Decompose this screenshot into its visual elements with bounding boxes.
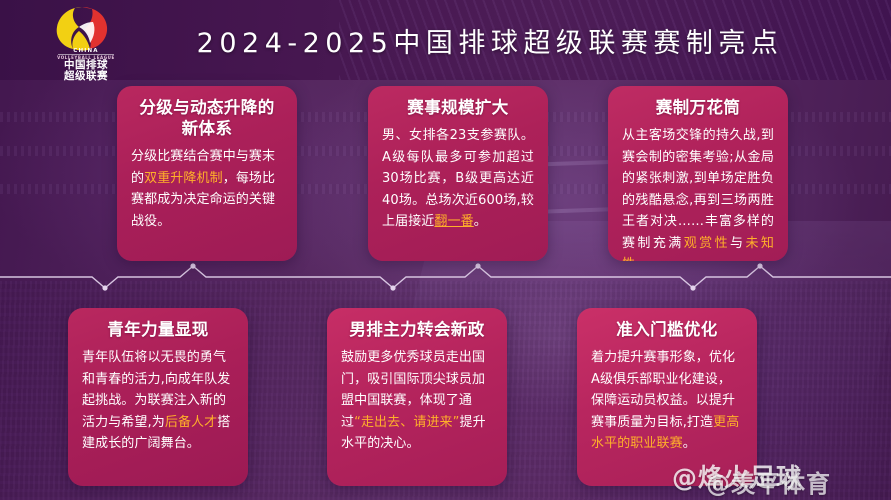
logo-main-line-2: 超级联赛 [40,71,132,82]
timeline-path-group [0,263,891,290]
card-title: 赛事规模扩大 [382,97,534,118]
volleyball-logo-icon [54,5,110,51]
card-body: 着力提升赛事形象，优化A级俱乐部职业化建设，保障运动员权益。以提升赛事质量为目标… [591,347,743,455]
card-title: 青年力量显现 [82,319,234,340]
card-body: 青年队伍将以无畏的勇气和青春的活力,向成年队发起挑战。为联赛注入新的活力与希望,… [82,347,234,455]
card-body: 分级比赛结合赛中与赛末的双重升降机制，每场比赛都成为决定命运的关键战役。 [131,146,283,232]
card-tiered-system[interactable]: 分级与动态升降的新体系 分级比赛结合赛中与赛末的双重升降机制，每场比赛都成为决定… [117,86,297,261]
body-text: 。 [683,436,696,451]
timeline-marker-down [102,285,107,290]
card-body: 男、女排各23支参赛队。A级每队最多可参加超过30场比赛，B级更高达近40场。总… [382,125,534,233]
timeline-connector [0,255,891,303]
card-title: 赛制万花筒 [622,97,774,118]
timeline-line [0,266,891,288]
card-youth-power[interactable]: 青年力量显现 青年队伍将以无畏的勇气和青春的活力,向成年队发起挑战。为联赛注入新… [68,308,248,486]
body-text: 与 [730,236,745,251]
card-body: 从主客场交锋的持久战,到赛会制的密集考验;从金局的紧张刺激,到单场定胜负的残酷悬… [622,125,774,261]
card-body: 鼓励更多优秀球员走出国门，吸引国际顶尖球员加盟中国联赛，体现了通过“走出去、请进… [341,347,493,455]
card-scale-expansion[interactable]: 赛事规模扩大 男、女排各23支参赛队。A级每队最多可参加超过30场比赛，B级更高… [368,86,548,261]
highlighted-text: “走出去、请进来” [354,415,459,430]
logo-main-text: 中国排球 超级联赛 [40,60,132,82]
league-logo: CHINA VOLLEYBALL LEAGUE 中国排球 超级联赛 [40,4,132,80]
body-text: 从主客场交锋的持久战,到赛会制的密集考验;从金局的紧张刺激,到单场定胜负的残酷悬… [622,128,774,251]
timeline-marker-up [475,263,480,268]
timeline-marker-up [190,263,195,268]
body-text: 。 [474,214,487,229]
highlighted-text: 后备人才 [165,415,217,430]
card-title: 准入门槛优化 [591,319,743,340]
card-mens-transfer-policy[interactable]: 男排主力转会新政 鼓励更多优秀球员走出国门，吸引国际顶尖球员加盟中国联赛，体现了… [327,308,507,486]
body-text: 。 [635,257,648,261]
card-title: 分级与动态升降的新体系 [131,97,283,139]
card-title: 男排主力转会新政 [341,319,493,340]
highlighted-text: 双重升降机制 [144,171,223,186]
highlighted-text: 观赏性 [684,236,730,251]
card-format-kaleidoscope[interactable]: 赛制万花筒 从主客场交锋的持久战,到赛会制的密集考验;从金局的紧张刺激,到单场定… [608,86,788,261]
card-entry-threshold[interactable]: 准入门槛优化 着力提升赛事形象，优化A级俱乐部职业化建设，保障运动员权益。以提升… [577,308,757,486]
timeline-marker-up [757,263,762,268]
timeline-marker-down [690,285,695,290]
timeline-marker-down [390,285,395,290]
page-title: 2024-2025中国排球超级联赛赛制亮点 [140,0,840,80]
highlighted-text: 翻一番 [434,214,473,229]
infographic-canvas: CHINA VOLLEYBALL LEAGUE 中国排球 超级联赛 2024-2… [0,0,891,500]
